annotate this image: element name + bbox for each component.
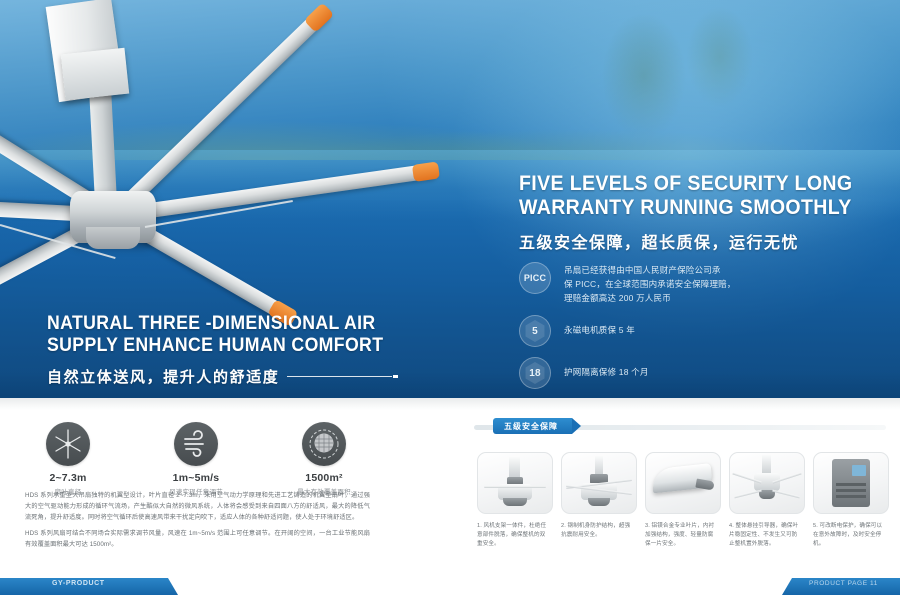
blade-tip <box>304 2 335 32</box>
headline-en-line1: NATURAL THREE -DIMENSIONAL AIR <box>47 313 438 335</box>
warranty-line-1: 护网隔离保修 18 个月 <box>564 365 649 379</box>
mounting-plate <box>61 48 129 100</box>
blade-hub-photo <box>729 452 805 514</box>
warranty-line-3: 理赔金额高达 200 万人民币 <box>564 291 736 305</box>
stat-value: 2~7.3m <box>26 472 110 484</box>
picc-badge-icon: PICC <box>519 262 551 294</box>
warranty-item-guard: 18 护网隔离保修 18 个月 <box>519 357 879 389</box>
brochure-page: FIVE LEVELS OF SECURITY LONG WARRANTY RU… <box>0 0 900 610</box>
features-section-tag: 五级安全保障 <box>493 418 572 434</box>
section-divider <box>0 398 900 410</box>
warranty-list: PICC 吊扇已经获得由中国人民财产保险公司承 保 PICC，在全球范围内承诺安… <box>519 262 879 398</box>
footer-page-label: PRODUCT PAGE 11 <box>809 580 878 587</box>
stat-value: 1500m² <box>282 472 366 484</box>
stat-windspeed: 1m~5m/s 风速实现任意调节 <box>154 422 238 496</box>
stats-row: 2~7.3m 扇叶直径 1m~5m/s 风速实现任意调节 <box>26 422 366 496</box>
ceiling-fan-photo <box>0 0 520 316</box>
feature-card[interactable]: 5. 可改断电保护，确保可以在意外故障时，及时安全停机。 <box>813 452 887 549</box>
fan-hub-motor <box>70 191 156 243</box>
feature-caption: 1. 风机支架一体件，杜绝任意部件脱落，确保整机的双重安全。 <box>477 522 551 549</box>
warranty-line-1: 永磁电机质保 5 年 <box>564 323 635 337</box>
eighteen-month-badge-number: 18 <box>524 362 546 384</box>
headline-cn: 自然立体送风，提升人的舒适度 <box>47 366 467 387</box>
feature-card[interactable]: 4. 整体悬挂引导器，确保叶片稳固定性、不发生又可防止整机置外脱落。 <box>729 452 803 549</box>
warranty-text: 吊扇已经获得由中国人民财产保险公司承 保 PICC，在全球范围内承诺安全保障理赔… <box>564 262 736 305</box>
feature-caption: 3. 铝镁合金专业叶片，内衬加强结构，强度、轻量防腐保一片安全。 <box>645 522 719 549</box>
feature-caption: 4. 整体悬挂引导器，确保叶片稳固定性、不发生又可防止整机置外脱落。 <box>729 522 803 549</box>
stat-coverage: 1500m² 最大有效覆盖面积 <box>282 422 366 496</box>
blade-profile-photo <box>645 452 721 514</box>
five-year-badge-number: 5 <box>524 320 546 342</box>
wind-flow-icon <box>174 422 218 466</box>
description-paragraph-1: HDS 系列承重型大吊扇独特的机翼型设计，叶片直径 2~7.3m，采用空气动力学… <box>25 490 370 523</box>
warranty-item-picc: PICC 吊扇已经获得由中国人民财产保险公司承 保 PICC，在全球范围内承诺安… <box>519 262 879 305</box>
blade-tip <box>412 161 440 181</box>
coverage-area-icon <box>302 422 346 466</box>
hero-left-headline: NATURAL THREE -DIMENSIONAL AIR SUPPLY EN… <box>47 313 467 387</box>
safety-cable-photo <box>561 452 637 514</box>
motor-assembly-photo <box>477 452 553 514</box>
feature-caption: 2. 钢制机身防护结构，超强抗震耐用安全。 <box>561 522 635 540</box>
picc-badge-label: PICC <box>524 273 546 283</box>
warranty-line-1: 吊扇已经获得由中国人民财产保险公司承 <box>564 263 736 277</box>
headline-cn-text: 自然立体送风，提升人的舒适度 <box>47 366 279 387</box>
feature-card[interactable]: 2. 钢制机身防护结构，超强抗震耐用安全。 <box>561 452 635 549</box>
eighteen-month-badge-icon: 18 <box>519 357 551 389</box>
headline-en-line1: FIVE LEVELS OF SECURITY LONG <box>519 172 863 196</box>
feature-caption: 5. 可改断电保护，确保可以在意外故障时，及时安全停机。 <box>813 522 887 549</box>
footer-brand-label: GY-PRODUCT <box>52 580 105 587</box>
description-text: HDS 系列承重型大吊扇独特的机翼型设计，叶片直径 2~7.3m，采用空气动力学… <box>25 490 370 555</box>
headline-en-line2: WARRANTY RUNNING SMOOTHLY <box>519 196 863 220</box>
features-tag-wrap: 五级安全保障 <box>474 418 886 434</box>
decorative-rule <box>287 376 392 377</box>
warranty-line-2: 保 PICC，在全球范围内承诺安全保障理赔， <box>564 277 736 291</box>
fan-mast <box>89 86 117 205</box>
hero-right-headline: FIVE LEVELS OF SECURITY LONG WARRANTY RU… <box>519 172 889 253</box>
warranty-item-motor: 5 永磁电机质保 5 年 <box>519 315 879 347</box>
feature-cards: 1. 风机支架一体件，杜绝任意部件脱落，确保整机的双重安全。 2. 钢制机身防护… <box>477 452 887 549</box>
feature-card[interactable]: 1. 风机支架一体件，杜绝任意部件脱落，确保整机的双重安全。 <box>477 452 551 549</box>
hero-section: FIVE LEVELS OF SECURITY LONG WARRANTY RU… <box>0 0 900 398</box>
headline-en-line2: SUPPLY ENHANCE HUMAN COMFORT <box>47 335 438 357</box>
stat-diameter: 2~7.3m 扇叶直径 <box>26 422 110 496</box>
warranty-text: 永磁电机质保 5 年 <box>564 315 635 337</box>
feature-card[interactable]: 3. 铝镁合金专业叶片，内衬加强结构，强度、轻量防腐保一片安全。 <box>645 452 719 549</box>
page-footer: GY-PRODUCT PRODUCT PAGE 11 <box>0 574 900 610</box>
controller-photo <box>813 452 889 514</box>
stat-value: 1m~5m/s <box>154 472 238 484</box>
fan-blade-icon <box>46 422 90 466</box>
warranty-text: 护网隔离保修 18 个月 <box>564 357 649 379</box>
description-paragraph-2: HDS 系列风扇可结合不同场合实际需求调节风量，风速在 1m~5m/s 范围上可… <box>25 528 370 550</box>
headline-cn: 五级安全保障，超长质保，运行无忧 <box>519 229 889 253</box>
five-year-badge-icon: 5 <box>519 315 551 347</box>
